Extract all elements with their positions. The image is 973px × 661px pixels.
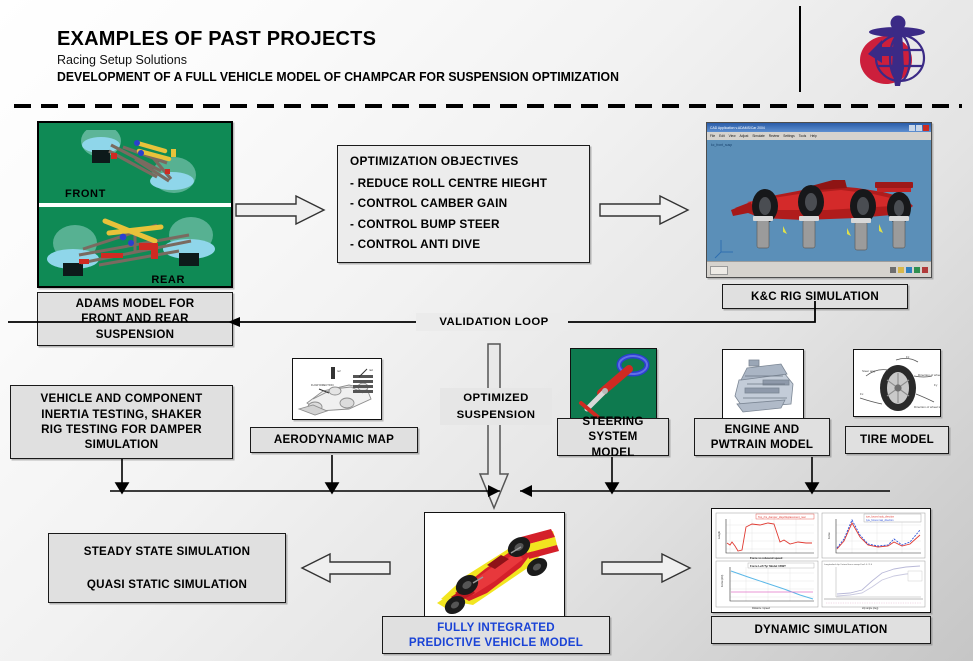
arrow-vehicle-to-simulations bbox=[300, 550, 392, 586]
pointer-icon bbox=[890, 267, 896, 273]
steady-state-simulation-label: STEADY STATE SIMULATION bbox=[80, 544, 255, 559]
svg-text:Longitudinal slip / lateral fo: Longitudinal slip / lateral force sweep … bbox=[824, 563, 873, 566]
svg-text:Force: Force bbox=[827, 532, 831, 539]
steering-system-caption-box: STEERING SYSTEM MODEL bbox=[557, 418, 669, 456]
svg-text:Distance / speed: Distance / speed bbox=[752, 607, 770, 610]
menu-simulate[interactable]: Simulate bbox=[752, 134, 764, 138]
svg-text:Fy: Fy bbox=[934, 383, 938, 387]
adams-front-label: FRONT bbox=[65, 188, 106, 200]
menu-settings[interactable]: Settings bbox=[783, 134, 795, 138]
menu-tools[interactable]: Tools bbox=[799, 134, 806, 138]
svg-text:Steer ang.: Steer ang. bbox=[862, 369, 876, 373]
tire-model-thumbnail: FzSteer ang. Direction of wheel heading … bbox=[853, 349, 941, 417]
inertia-line-2: INERTIA TESTING, SHAKER bbox=[37, 407, 207, 422]
aerodynamic-map-caption-box: AERODYNAMIC MAP bbox=[250, 427, 418, 453]
svg-text:Force vs rebound speed: Force vs rebound speed bbox=[750, 556, 783, 560]
inertia-testing-box: VEHICLE AND COMPONENT INERTIA TESTING, S… bbox=[10, 385, 233, 459]
slide-canvas: EXAMPLES OF PAST PROJECTS Racing Setup S… bbox=[0, 0, 973, 661]
svg-text:Force Left Tyr Model 1SWT: Force Left Tyr Model 1SWT bbox=[750, 564, 786, 568]
adams-front-view: FRONT bbox=[39, 123, 231, 207]
project-description: DEVELOPMENT OF A FULL VEHICLE MODEL OF C… bbox=[57, 70, 619, 84]
adams-caption-line-2: FRONT AND REAR bbox=[72, 311, 199, 326]
kc-statusbar[interactable] bbox=[707, 261, 931, 278]
collector-connector-lines bbox=[100, 455, 900, 501]
folder-icon bbox=[898, 267, 904, 273]
svg-text:Length: Length bbox=[717, 531, 721, 539]
tire-model-caption-box: TIRE MODEL bbox=[845, 426, 949, 454]
svg-text:Force (kN): Force (kN) bbox=[720, 575, 724, 587]
adams-caption-line-1: ADAMS MODEL FOR bbox=[72, 296, 199, 311]
objective-item-3: - CONTROL BUMP STEER bbox=[350, 214, 589, 234]
dynamic-simulation-caption: DYNAMIC SIMULATION bbox=[750, 622, 891, 637]
quasi-static-simulation-label: QUASI STATIC SIMULATION bbox=[83, 577, 251, 592]
adams-caption-line-3: SUSPENSION bbox=[72, 327, 199, 342]
svg-text:ref: ref bbox=[337, 369, 341, 373]
simulation-results-box: STEADY STATE SIMULATION QUASI STATIC SIM… bbox=[48, 533, 286, 603]
objectives-heading: OPTIMIZATION OBJECTIVES bbox=[350, 154, 589, 168]
header-vertical-divider bbox=[799, 6, 801, 92]
vehicle-model-caption-line-1: FULLY INTEGRATED bbox=[405, 620, 587, 635]
validation-loop-label: VALIDATION LOOP bbox=[424, 315, 564, 330]
kc-window-buttons[interactable] bbox=[909, 125, 931, 131]
svg-text:Direction of wheel heading: Direction of wheel heading bbox=[918, 373, 941, 377]
engine-caption-box: ENGINE AND PWTRAIN MODEL bbox=[694, 418, 830, 456]
vehicle-model-caption-line-2: PREDICTIVE VEHICLE MODEL bbox=[405, 635, 587, 650]
globe-icon bbox=[906, 267, 912, 273]
adams-rear-label: REAR bbox=[151, 274, 185, 286]
minimize-icon bbox=[909, 125, 915, 131]
svg-text:Direction of wheel travel: Direction of wheel travel bbox=[914, 405, 941, 409]
objective-item-2: - CONTROL CAMBER GAIN bbox=[350, 193, 589, 213]
header-dashed-divider bbox=[14, 104, 962, 108]
tire-model-caption: TIRE MODEL bbox=[856, 432, 938, 447]
inertia-line-1: VEHICLE AND COMPONENT bbox=[37, 391, 207, 406]
optimized-suspension-label: OPTIMIZED SUSPENSION bbox=[440, 388, 552, 425]
maximize-icon bbox=[916, 125, 922, 131]
kc-rig-simulation-window[interactable]: CAD Application v.ADAMS/Car 2004 File Ed… bbox=[706, 122, 932, 278]
engine-caption-line-1: ENGINE AND bbox=[707, 422, 817, 437]
page-title: EXAMPLES OF PAST PROJECTS bbox=[57, 28, 376, 51]
svg-text:tyre_forces map_direction: tyre_forces map_direction bbox=[866, 519, 894, 522]
inertia-line-4: SIMULATION bbox=[37, 437, 207, 452]
page-subtitle: Racing Setup Solutions bbox=[57, 53, 187, 67]
kc-status-chip[interactable] bbox=[710, 266, 728, 275]
menu-file[interactable]: File bbox=[710, 134, 715, 138]
adams-model-image: FRONT bbox=[37, 121, 233, 288]
kc-window-title: CAD Application v.ADAMS/Car 2004 bbox=[707, 126, 765, 130]
svg-text:FLOW DIRECTION: FLOW DIRECTION bbox=[311, 383, 334, 387]
grid-icon bbox=[914, 267, 920, 273]
adams-model-caption-box: ADAMS MODEL FOR FRONT AND REAR SUSPENSIO… bbox=[37, 292, 233, 346]
kc-3d-viewport[interactable]: kc_front_susp bbox=[707, 140, 931, 261]
svg-text:Fx: Fx bbox=[860, 392, 864, 396]
svg-text:Top_rhs_damper_disp/displaceme: Top_rhs_damper_disp/displacement_rear bbox=[758, 515, 806, 519]
objective-item-1: - REDUCE ROLL CENTRE HIEGHT bbox=[350, 173, 589, 193]
menu-adjust[interactable]: Adjust bbox=[740, 134, 749, 138]
inertia-line-3: RIG TESTING FOR DAMPER bbox=[37, 422, 207, 437]
engine-caption-line-2: PWTRAIN MODEL bbox=[707, 437, 817, 452]
vehicle-model-thumbnail bbox=[424, 512, 565, 620]
menu-edit[interactable]: Edit bbox=[719, 134, 725, 138]
results-charts: Top_rhs_damper_disp/displacement_rear Fo… bbox=[712, 509, 929, 611]
engine-thumbnail bbox=[722, 349, 804, 421]
arrow-objectives-to-kc-rig bbox=[598, 192, 690, 228]
svg-text:Fz: Fz bbox=[906, 355, 910, 359]
aerodynamic-map-thumbnail: ref FLOW DIRECTION rad bbox=[292, 358, 382, 420]
menu-help[interactable]: Help bbox=[810, 134, 817, 138]
objective-item-4: - CONTROL ANTI DIVE bbox=[350, 234, 589, 254]
kc-toolbar-icons[interactable] bbox=[890, 267, 928, 273]
arrow-vehicle-to-dynamic bbox=[600, 550, 692, 586]
arrow-adams-to-objectives bbox=[234, 192, 326, 228]
vehicle-model-caption-box: FULLY INTEGRATED PREDICTIVE VEHICLE MODE… bbox=[382, 616, 610, 654]
record-icon bbox=[922, 267, 928, 273]
kc-window-titlebar[interactable]: CAD Application v.ADAMS/Car 2004 bbox=[707, 123, 931, 132]
dynamic-simulation-thumbnail: Top_rhs_damper_disp/displacement_rear Fo… bbox=[711, 508, 931, 613]
steering-caption-line-1: STEERING bbox=[562, 414, 664, 429]
close-icon bbox=[923, 125, 929, 131]
company-logo-icon bbox=[848, 10, 940, 92]
menu-review[interactable]: Review bbox=[769, 134, 779, 138]
dynamic-simulation-caption-box: DYNAMIC SIMULATION bbox=[711, 616, 931, 644]
adams-rear-view: REAR bbox=[39, 207, 231, 289]
aerodynamic-map-caption: AERODYNAMIC MAP bbox=[270, 432, 398, 447]
svg-text:slip angle (deg): slip angle (deg) bbox=[862, 607, 879, 610]
svg-text:rad: rad bbox=[369, 368, 373, 372]
optimization-objectives-box: OPTIMIZATION OBJECTIVES - REDUCE ROLL CE… bbox=[337, 145, 590, 263]
menu-view[interactable]: View bbox=[729, 134, 736, 138]
optimized-label-line-1: OPTIMIZED bbox=[440, 390, 552, 407]
kc-menubar[interactable]: File Edit View Adjust Simulate Review Se… bbox=[707, 132, 931, 140]
optimized-label-line-2: SUSPENSION bbox=[440, 407, 552, 424]
